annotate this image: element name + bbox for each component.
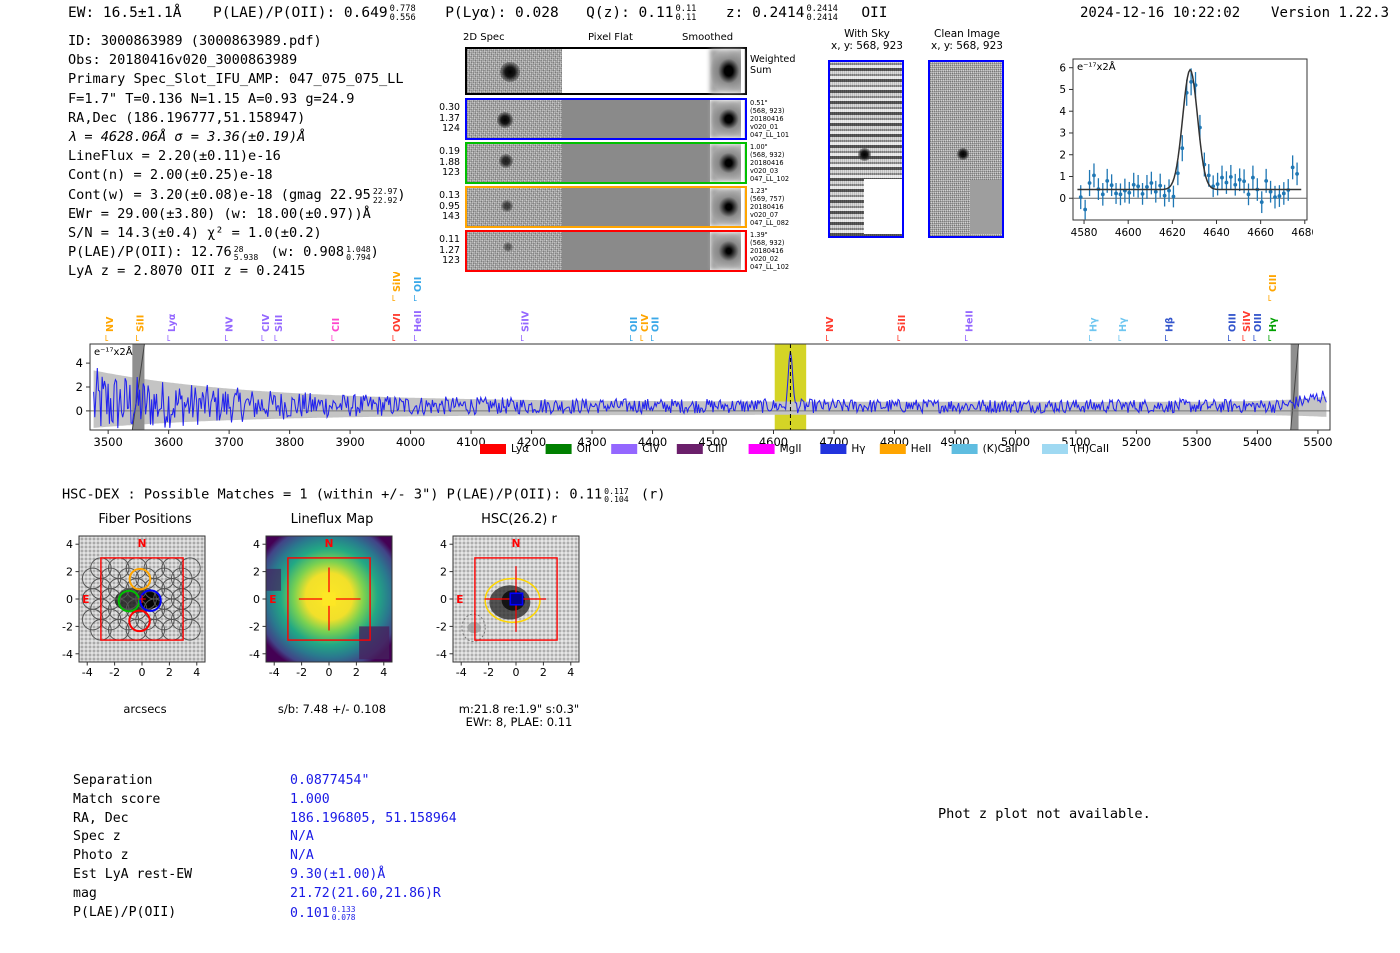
svg-text:2: 2 (166, 666, 173, 679)
weighted-sum-line2: Sum (750, 65, 795, 76)
info-plae: P(LAE)/P(OII): 12.76285.938 (w: 0.9081.0… (68, 243, 406, 262)
svg-text:-2: -2 (109, 666, 120, 679)
table-row: P(LAE)/P(OII)0.1010.1330.078 (73, 904, 458, 924)
svg-text:5400: 5400 (1243, 435, 1272, 449)
spec2d-row-right-values: 1.00"(568, 932)20180416v020_03047_LL_102 (750, 143, 789, 183)
svg-text:3600: 3600 (154, 435, 183, 449)
svg-text:⌐: ⌐ (410, 334, 421, 342)
header-z-lo: 0.2414 (806, 13, 837, 23)
spec2d-fiber-row (465, 142, 747, 184)
svg-text:-4: -4 (456, 666, 467, 679)
match-row-value: 21.72(21.60,21.86)R (289, 885, 458, 904)
info-plae-w-lo: 0.794 (346, 252, 371, 262)
svg-text:⌐: ⌐ (271, 334, 282, 342)
info-cont-w-pre: Cont(w) = 3.20(±0.08)e-18 (gmag 22.95 (68, 187, 371, 203)
svg-text:⌐: ⌐ (164, 334, 175, 342)
emission-line-label: OIII (1253, 313, 1264, 332)
svg-text:0: 0 (326, 666, 333, 679)
svg-text:4600: 4600 (1115, 227, 1142, 239)
svg-text:-4: -4 (62, 648, 73, 661)
table-row: Photo zN/A (73, 847, 458, 866)
cutout-clean-image (928, 60, 1004, 238)
emission-line-label: NV (225, 316, 236, 332)
info-lambda: λ = 4628.06Å σ = 3.36(±0.19)Å (68, 128, 406, 147)
spec2d-col-header-smoothed: Smoothed (682, 32, 733, 43)
svg-text:3800: 3800 (275, 435, 304, 449)
svg-text:e⁻¹⁷x2Å: e⁻¹⁷x2Å (94, 345, 133, 358)
panel-hsc-title: HSC(26.2) r (419, 512, 619, 527)
svg-text:3: 3 (1059, 128, 1066, 140)
legend-label: (H)CaII (1073, 443, 1109, 455)
spec2d-left-value: 0.30 (420, 103, 460, 114)
full-spectrum-chart: e⁻¹⁷x2Å350036003700380039004000410042004… (60, 272, 1340, 472)
svg-text:4: 4 (66, 538, 73, 551)
legend-label: Lyα (511, 443, 529, 455)
info-slot: Primary Spec_Slot_IFU_AMP: 047_075_075_L… (68, 70, 406, 89)
spec2d-right-value: (568, 923) (750, 107, 789, 115)
svg-text:1: 1 (1059, 171, 1066, 183)
info-cont-w: Cont(w) = 3.20(±0.08)e-18 (gmag 22.9522.… (68, 186, 406, 205)
svg-text:⌐: ⌐ (1224, 334, 1235, 342)
spec2d-weighted-sum-label: Weighted Sum (750, 54, 795, 76)
spec2d-right-value: 047_LL_102 (750, 175, 789, 183)
svg-text:5200: 5200 (1122, 435, 1151, 449)
svg-text:⌐: ⌐ (1115, 334, 1126, 342)
cutout-clean-subtitle: x, y: 568, 923 (926, 40, 1008, 52)
svg-text:-4: -4 (269, 666, 280, 679)
info-id: ID: 3000863989 (3000863989.pdf) (68, 32, 406, 51)
legend-label: (K)CaII (983, 443, 1018, 455)
emission-line-label: Lyα (167, 313, 178, 332)
panel-hsc-xlabel2: EWr: 8, PLAE: 0.11 (419, 715, 619, 729)
emission-line-label: OII (413, 277, 424, 292)
svg-text:0: 0 (253, 593, 260, 606)
svg-text:⌐: ⌐ (221, 334, 232, 342)
spec2d-right-value: 20180416 (750, 247, 789, 255)
svg-text:2: 2 (253, 566, 260, 579)
cutout-with-sky-image (828, 60, 904, 238)
spec2d-right-value: 047_LL_102 (750, 263, 789, 271)
compass-north: N (325, 538, 334, 550)
spec2d-left-value: 0.13 (420, 191, 460, 202)
spec2d-right-value: v020_07 (750, 211, 789, 219)
svg-text:3700: 3700 (214, 435, 243, 449)
svg-text:⌐: ⌐ (961, 334, 972, 342)
svg-text:0: 0 (513, 666, 520, 679)
spec2d-row-left-values: 0.191.88123 (420, 147, 460, 179)
info-plae-lo: 5.938 (234, 252, 259, 262)
svg-text:4640: 4640 (1203, 227, 1230, 239)
photz-message: Phot z plot not available. (938, 806, 1151, 822)
panel-hsc-r: HSC(26.2) r -4-4-2-2002244NE m:21.8 re:1… (419, 512, 619, 727)
info-cont-w-lo: 22.92 (373, 195, 398, 205)
hscdex-title-pre: HSC-DEX : Possible Matches = 1 (within +… (62, 486, 602, 502)
info-cont-n: Cont(n) = 2.00(±0.25)e-18 (68, 166, 406, 185)
header-plae-label: P(LAE)/P(OII): 0.649 (213, 5, 388, 21)
emission-line-label: Hγ (1268, 317, 1279, 332)
info-ewr: EWr = 29.00(±3.80) (w: 18.00(±0.97))Å (68, 205, 406, 224)
cutout-with-sky-subtitle: x, y: 568, 923 (826, 40, 908, 52)
hsc-r-svg: -4-4-2-2002244NE (419, 530, 619, 708)
header-summary: EW: 16.5±1.1Å P(LAE)/P(OII): 0.6490.7780… (68, 4, 888, 22)
legend-label: MgII (780, 443, 802, 455)
compass-east: E (82, 594, 89, 606)
table-row: RA, Dec186.196805, 51.158964 (73, 810, 458, 829)
spec2d-right-value: 20180416 (750, 115, 789, 123)
emission-line-label: SiII (136, 315, 147, 332)
lineflux-map-svg: -4-4-2-2002244NE (232, 530, 432, 708)
svg-text:4620: 4620 (1159, 227, 1186, 239)
spec2d-right-value: v020_03 (750, 167, 789, 175)
spec2d-right-value: 20180416 (750, 159, 789, 167)
spec2d-right-value: v020_01 (750, 123, 789, 131)
svg-text:2: 2 (353, 666, 360, 679)
info-radec: RA,Dec (186.196777,51.158947) (68, 109, 406, 128)
svg-text:-4: -4 (249, 648, 260, 661)
spec2d-right-value: 1.23" (750, 187, 789, 195)
spec2d-left-value: 0.11 (420, 235, 460, 246)
table-row: Separation0.0877454" (73, 772, 458, 791)
info-plae-mid: (w: 0.908 (270, 244, 344, 260)
svg-text:⌐: ⌐ (894, 334, 905, 342)
header-qz-label: Q(z): 0.11 (586, 5, 673, 21)
match-table-element: Separation0.0877454"Match score1.000RA, … (73, 772, 458, 923)
svg-text:6: 6 (1059, 62, 1066, 74)
svg-text:0: 0 (139, 666, 146, 679)
svg-text:4: 4 (567, 666, 574, 679)
spec2d-right-value: 047_LL_101 (750, 131, 789, 139)
emission-line-label: OII (650, 317, 661, 332)
header-qz-lo: 0.11 (675, 13, 696, 23)
svg-text:-4: -4 (82, 666, 93, 679)
svg-text:0: 0 (440, 593, 447, 606)
match-row-value: 0.0877454" (289, 772, 458, 791)
spec2d-right-value: 0.51" (750, 99, 789, 107)
spec2d-col-header-pixelflat: Pixel Flat (588, 32, 633, 43)
spec2d-fiber-row (465, 98, 747, 140)
svg-text:⌐: ⌐ (389, 334, 400, 342)
svg-text:⌐: ⌐ (1085, 334, 1096, 342)
svg-text:2: 2 (540, 666, 547, 679)
spec2d-right-value: (568, 932) (750, 239, 789, 247)
svg-text:2: 2 (66, 566, 73, 579)
match-row-value: 186.196805, 51.158964 (289, 810, 458, 829)
spec2d-right-value: 1.00" (750, 143, 789, 151)
version-text: Version 1.22.3 (1271, 5, 1389, 21)
match-row-label: Photo z (73, 847, 289, 866)
info-block: ID: 3000863989 (3000863989.pdf) Obs: 201… (68, 32, 406, 282)
svg-text:⌐: ⌐ (1249, 334, 1260, 342)
spec2d-row-left-values: 0.130.95143 (420, 191, 460, 223)
match-row-value-main: 0.101 (290, 906, 330, 921)
emission-line-label: HeII (964, 310, 975, 332)
header-plya: P(Lyα): 0.028 (445, 5, 559, 21)
info-obs: Obs: 20180416v020_3000863989 (68, 51, 406, 70)
svg-text:4660: 4660 (1247, 227, 1274, 239)
compass-north: N (512, 538, 521, 550)
svg-text:⌐: ⌐ (257, 334, 268, 342)
spec2d-weighted-sum-row (465, 47, 747, 95)
hscdex-title: HSC-DEX : Possible Matches = 1 (within +… (62, 486, 665, 503)
emission-line-label: SiIV (520, 310, 531, 332)
spec2d-left-value: 123 (420, 168, 460, 179)
svg-text:4000: 4000 (396, 435, 425, 449)
match-row-value: 1.000 (289, 791, 458, 810)
table-row: Spec zN/A (73, 828, 458, 847)
panel-fiber-xlabel: arcsecs (45, 702, 245, 716)
emission-line-label: NV (825, 316, 836, 332)
fiber-positions-svg: +-4-4-2-2002244NE (45, 530, 245, 708)
cutout-clean-image: Clean Image x, y: 568, 923 (926, 28, 1008, 52)
header-z-type: OII (861, 5, 887, 21)
svg-text:-4: -4 (436, 648, 447, 661)
match-row-label: Match score (73, 791, 289, 810)
match-row-value: N/A (289, 828, 458, 847)
match-table: Separation0.0877454"Match score1.000RA, … (73, 772, 458, 923)
spec2d-row-right-values: 1.23"(569, 757)20180416v020_07047_LL_082 (750, 187, 789, 227)
svg-text:⌐: ⌐ (101, 334, 112, 342)
match-row-label: mag (73, 885, 289, 904)
legend-label: CIII (708, 443, 725, 455)
svg-text:0: 0 (66, 593, 73, 606)
match-row-label: RA, Dec (73, 810, 289, 829)
match-row-label: Spec z (73, 828, 289, 847)
emission-line-label: Hγ (1088, 317, 1099, 332)
spec2d-right-value: (568, 932) (750, 151, 789, 159)
timestamp-text: 2024-12-16 10:22:02 (1080, 5, 1240, 21)
spec2d-left-value: 143 (420, 212, 460, 223)
panel-fiber-positions: Fiber Positions +-4-4-2-2002244NE arcsec… (45, 512, 245, 712)
match-row-label: Separation (73, 772, 289, 791)
header-z-label: z: 0.2414 (726, 5, 805, 21)
info-lineflux: LineFlux = 2.20(±0.11)e-16 (68, 147, 406, 166)
spec2d-left-value: 123 (420, 256, 460, 267)
emission-line-label: OII (629, 317, 640, 332)
emission-line-label: Hγ (1118, 317, 1129, 332)
svg-text:⌐: ⌐ (517, 334, 528, 342)
svg-text:+: + (137, 592, 147, 606)
match-row-value: 9.30(±1.00)Å (289, 866, 458, 885)
header-timestamp-version: 2024-12-16 10:22:02 Version 1.22.3 (1080, 5, 1389, 21)
info-seeing: F=1.7" T=0.136 N=1.15 A=0.93 g=24.9 (68, 90, 406, 109)
legend-label: OII (577, 443, 591, 455)
compass-east: E (269, 594, 276, 606)
svg-text:0: 0 (76, 404, 83, 418)
svg-text:2: 2 (1059, 149, 1066, 161)
spec2d-right-value: 20180416 (750, 203, 789, 211)
spec2d-row-left-values: 0.301.37124 (420, 103, 460, 135)
panel-hsc-xlabel: m:21.8 re:1.9" s:0.3" (419, 702, 619, 716)
line-profile-chart: 4580460046204640466046800123456e⁻¹⁷x2Å (1035, 45, 1313, 250)
cutout-with-sky: With Sky x, y: 568, 923 (826, 28, 908, 52)
svg-text:4: 4 (76, 356, 83, 370)
spec2d-right-value: (569, 757) (750, 195, 789, 203)
info-plae-post: ) (371, 244, 379, 260)
table-row: Match score1.000 (73, 791, 458, 810)
svg-text:-2: -2 (296, 666, 307, 679)
svg-text:2: 2 (76, 380, 83, 394)
svg-text:⌐: ⌐ (1265, 294, 1276, 302)
spec2d-fiber-row (465, 186, 747, 228)
emission-line-label: HeII (413, 310, 424, 332)
table-row: mag21.72(21.60,21.86)R (73, 885, 458, 904)
svg-text:2: 2 (440, 566, 447, 579)
svg-text:-2: -2 (62, 620, 73, 633)
match-row-label: P(LAE)/P(OII) (73, 904, 289, 924)
emission-line-label: NV (105, 316, 116, 332)
svg-text:⌐: ⌐ (328, 334, 339, 342)
emission-line-label: OIII (1227, 313, 1238, 332)
emission-line-label: Hβ (1165, 317, 1176, 332)
legend-label: HeII (911, 443, 932, 455)
svg-text:e⁻¹⁷x2Å: e⁻¹⁷x2Å (1077, 60, 1116, 73)
spec2d-row-right-values: 1.39"(568, 932)20180416v020_02047_LL_102 (750, 231, 789, 271)
svg-text:-2: -2 (483, 666, 494, 679)
svg-text:5500: 5500 (1303, 435, 1332, 449)
panel-lineflux-title: Lineflux Map (232, 512, 432, 527)
info-plae-pre: P(LAE)/P(OII): 12.76 (68, 244, 232, 260)
hscdex-title-lo: 0.104 (604, 494, 629, 504)
match-row-value: 0.1010.1330.078 (289, 904, 458, 924)
emission-line-label: CII (331, 318, 342, 332)
svg-text:4: 4 (193, 666, 200, 679)
panel-lineflux-xlabel: s/b: 7.48 +/- 0.108 (232, 702, 432, 716)
svg-text:4: 4 (1059, 106, 1066, 118)
spec2d-left-value: 0.19 (420, 147, 460, 158)
cutout-with-sky-title: With Sky (826, 28, 908, 40)
match-row-value: N/A (289, 847, 458, 866)
spec2d-row-right-values: 0.51"(568, 923)20180416v020_01047_LL_101 (750, 99, 789, 139)
svg-text:⌐: ⌐ (626, 334, 637, 342)
spec2d-row-left-values: 0.111.27123 (420, 235, 460, 267)
emission-line-label: SiII (897, 315, 908, 332)
svg-text:0: 0 (1059, 193, 1066, 205)
emission-line-label: CIII (1268, 274, 1279, 292)
emission-line-label: OVI (392, 313, 403, 332)
match-row-value-lo: 0.078 (332, 913, 356, 922)
legend-label: CIV (642, 443, 660, 455)
svg-text:⌐: ⌐ (389, 294, 400, 302)
spec2d-right-value: v020_02 (750, 255, 789, 263)
line-profile-svg: 4580460046204640466046800123456e⁻¹⁷x2Å (1035, 45, 1313, 250)
svg-text:⌐: ⌐ (1265, 334, 1276, 342)
match-row-label: Est LyA rest-EW (73, 866, 289, 885)
full-spectrum-svg: e⁻¹⁷x2Å350036003700380039004000410042004… (60, 272, 1340, 472)
svg-text:4: 4 (253, 538, 260, 551)
emission-line-label: SiII (274, 315, 285, 332)
info-sn: S/N = 14.3(±0.4) χ² = 1.0(±0.2) (68, 224, 406, 243)
svg-text:4: 4 (380, 666, 387, 679)
info-cont-w-post: ) (397, 187, 405, 203)
emission-line-label: SiIV (1242, 310, 1253, 332)
svg-text:-2: -2 (249, 620, 260, 633)
table-row: Est LyA rest-EW9.30(±1.00)Å (73, 866, 458, 885)
svg-text:⌐: ⌐ (132, 334, 143, 342)
svg-text:⌐: ⌐ (1239, 334, 1250, 342)
svg-text:5: 5 (1059, 84, 1066, 96)
compass-north: N (138, 538, 147, 550)
weighted-sum-line1: Weighted (750, 54, 795, 65)
svg-text:3900: 3900 (335, 435, 364, 449)
hscdex-title-post: (r) (641, 486, 666, 502)
svg-text:3500: 3500 (94, 435, 123, 449)
panel-fiber-title: Fiber Positions (45, 512, 245, 527)
svg-text:⌐: ⌐ (410, 294, 421, 302)
spec2d-right-value: 047_LL_082 (750, 219, 789, 227)
svg-text:⌐: ⌐ (1161, 334, 1172, 342)
emission-line-label: SiIV (392, 272, 403, 292)
spec2d-fiber-row (465, 230, 747, 272)
cutout-clean-title: Clean Image (926, 28, 1008, 40)
svg-text:⌐: ⌐ (822, 334, 833, 342)
spec2d-col-header-2dspec: 2D Spec (463, 32, 505, 43)
compass-east: E (456, 594, 463, 606)
header-plae-lo: 0.556 (390, 13, 416, 23)
panel-lineflux-map: Lineflux Map -4-4-2-2002244NE s/b: 7.48 … (232, 512, 432, 712)
svg-text:-2: -2 (436, 620, 447, 633)
header-ew: EW: 16.5±1.1Å (68, 5, 182, 21)
spec2d-panel: 2D Spec Pixel Flat Smoothed Weighted Sum… (420, 30, 810, 260)
svg-text:4580: 4580 (1071, 227, 1098, 239)
spec2d-right-value: 1.39" (750, 231, 789, 239)
svg-text:4: 4 (440, 538, 447, 551)
emission-line-label: CIV (261, 313, 272, 332)
svg-text:5300: 5300 (1182, 435, 1211, 449)
svg-text:4680: 4680 (1291, 227, 1313, 239)
svg-text:⌐: ⌐ (647, 334, 658, 342)
spec2d-left-value: 124 (420, 124, 460, 135)
legend-label: Hγ (851, 443, 865, 455)
